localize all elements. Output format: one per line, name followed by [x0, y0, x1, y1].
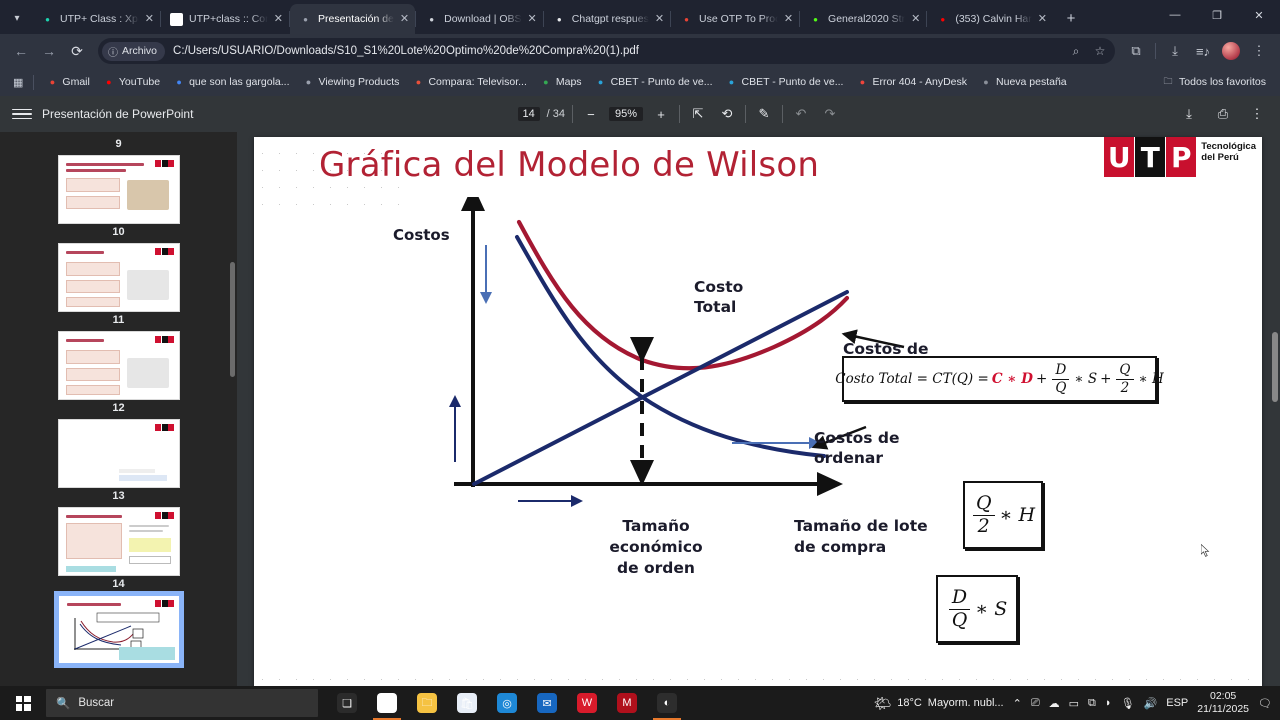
- thumbnail-number: 13: [112, 490, 124, 502]
- thumbnail-number: 9: [115, 138, 121, 150]
- youtube-icon: ●: [936, 13, 949, 26]
- tab-title: Use OTP To Proc: [699, 12, 778, 26]
- clock[interactable]: 02:05 21/11/2025: [1197, 690, 1249, 716]
- screenshot-icon[interactable]: ⧉: [1088, 697, 1096, 710]
- undo-icon[interactable]: ↶: [790, 103, 812, 125]
- ordering-cost-formula: D Q ∗ S: [947, 588, 1008, 631]
- total-cost-formula-box: Costo Total = CT(Q) = C ∗ D + D Q ∗ S +: [842, 356, 1157, 402]
- back-button[interactable]: ←: [8, 38, 34, 64]
- tab-title: General2020 Str: [828, 12, 905, 26]
- apps-grid-icon[interactable]: ▦: [8, 74, 27, 91]
- star-icon[interactable]: ☆: [1089, 40, 1111, 62]
- utp-logo-letter-p: P: [1166, 137, 1196, 177]
- utp-logo-caption: Tecnológica del Perú: [1201, 137, 1256, 163]
- bookmark-label: Nueva pestaña: [996, 76, 1067, 88]
- total-cost-formula: Costo Total = CT(Q) = C ∗ D + D Q ∗ S +: [835, 363, 1163, 394]
- folder-icon: 🗀: [1162, 76, 1174, 88]
- fraction-denominator: Q: [949, 610, 971, 631]
- fraction-numerator: Q: [973, 494, 995, 516]
- tab-title: Chatgpt respues: [572, 12, 649, 26]
- cbet-icon: ●: [726, 76, 738, 88]
- tab-close-icon[interactable]: ✕: [1038, 14, 1047, 25]
- bookmark-item[interactable]: ●Maps: [534, 74, 588, 90]
- tab-close-icon[interactable]: ✕: [400, 14, 409, 25]
- formula-fraction-q-2: Q 2: [973, 494, 995, 537]
- all-bookmarks-label: Todos los favoritos: [1179, 76, 1266, 88]
- file-chip-label: Archivo: [122, 45, 157, 57]
- browser-toolbar: ← → ⟳ ⓘ Archivo C:/Users/USUARIO/Downloa…: [0, 34, 1280, 68]
- thumbnail-slide[interactable]: [58, 507, 180, 576]
- toolbar-divider: [745, 105, 746, 123]
- formula-fraction-d-q: D Q: [949, 588, 971, 631]
- thumbnail-scrollbar[interactable]: [230, 262, 235, 377]
- file-scheme-chip[interactable]: ⓘ Archivo: [102, 42, 165, 61]
- formula-term-cd: C ∗ D: [992, 371, 1033, 387]
- info-circle-icon: ⓘ: [108, 44, 118, 59]
- obs-icon: ◐: [657, 693, 677, 713]
- wilson-model-chart: Costos CostoTotal Costos deinventario Co…: [254, 197, 1262, 686]
- bookmark-label: que son las gargola...: [189, 76, 289, 88]
- mic-icon[interactable]: 🎙: [1121, 697, 1135, 710]
- obs-icon: ●: [425, 13, 438, 26]
- toolbar-divider: [1155, 43, 1156, 59]
- toolbar-divider: [679, 105, 680, 123]
- compare-icon: ●: [412, 76, 424, 88]
- fit-page-icon[interactable]: ⇱: [687, 103, 709, 125]
- pdf-document-title: Presentación de PowerPoint: [42, 107, 193, 121]
- pdf-toolbar-controls: 14 / 34 − 95% + ⇱ ⟲ ✎ ↶ ↷ ⤓ ⎙ ⋮: [518, 103, 1268, 125]
- file-explorer-button[interactable]: 🗀: [408, 686, 446, 720]
- mouse-cursor: [1201, 544, 1211, 558]
- mingo-icon: M: [617, 693, 637, 713]
- thumbnail-slide[interactable]: [58, 595, 180, 664]
- slide-page: Gráfica del Modelo de Wilson U T P Tecno…: [254, 137, 1262, 686]
- pdf-toolbar-right-group: ⤓ ⎙ ⋮: [1178, 103, 1268, 125]
- bookmark-item[interactable]: ●Gmail: [40, 74, 95, 90]
- omnibox-actions: ⌕ ☆: [1065, 40, 1111, 62]
- formula-mul-h: ∗ H: [1139, 371, 1164, 387]
- new-tab-button[interactable]: +: [1059, 6, 1083, 30]
- volume-icon[interactable]: 🔊: [1144, 697, 1158, 710]
- thumbnail-item[interactable]: 10: [0, 224, 237, 312]
- mini-utp-logo: [155, 512, 175, 519]
- language-indicator[interactable]: ESP: [1166, 697, 1188, 709]
- wifi-icon[interactable]: ◗: [1105, 697, 1112, 709]
- mini-utp-logo: [155, 160, 175, 167]
- tab-title: (353) Calvin Har: [955, 12, 1031, 26]
- tab-close-icon[interactable]: ✕: [911, 14, 920, 25]
- all-bookmarks-button[interactable]: 🗀 Todos los favoritos: [1156, 74, 1272, 90]
- bookmark-label: Maps: [556, 76, 582, 88]
- ordering-cost-formula-box: D Q ∗ S: [936, 575, 1018, 643]
- tab-strip: ▾ ●UTP+ Class : Xpe✕●UTP+class :: Con✕●P…: [0, 0, 1280, 34]
- chrome-button[interactable]: ◉: [368, 686, 406, 720]
- weather-widget[interactable]: 🌤 18°C Mayorm. nubl...: [873, 695, 1003, 712]
- tab-title: UTP+ Class : Xpe: [60, 12, 139, 26]
- annotation-costos-ordenar: Costos deordenar: [814, 428, 900, 468]
- three-dot-menu-icon[interactable]: ⋮: [1246, 103, 1268, 125]
- outlook-icon: ✉: [537, 693, 557, 713]
- mingo-button[interactable]: M: [608, 686, 646, 720]
- thumbnail-item[interactable]: 14: [0, 576, 237, 664]
- mini-utp-logo: [155, 336, 175, 343]
- annotation-costo-total: CostoTotal: [694, 277, 743, 317]
- bookmark-item[interactable]: ●Viewing Products: [297, 74, 406, 90]
- chrome-icon: ◉: [377, 693, 397, 713]
- pdf-globe-icon: ●: [299, 13, 312, 26]
- search-icon: 🔍: [56, 696, 70, 710]
- file-explorer-icon: 🗀: [417, 693, 437, 713]
- browser-tab[interactable]: ●UTP+class :: Con✕: [161, 4, 289, 34]
- bookmark-label: Compara: Televisor...: [428, 76, 526, 88]
- chatgpt-icon: ●: [553, 13, 566, 26]
- wattpad-icon: W: [577, 693, 597, 713]
- browser-window: ▾ ●UTP+ Class : Xpe✕●UTP+class :: Con✕●P…: [0, 0, 1280, 686]
- hamburger-menu-icon[interactable]: [12, 109, 32, 120]
- formula-mul-h: ∗ H: [1000, 504, 1036, 526]
- thumbnail-number: 14: [112, 578, 124, 590]
- utp-logo: U T P Tecnológica del Perú: [1104, 137, 1256, 177]
- windows-start-icon[interactable]: [0, 686, 46, 720]
- pdf-toolbar: Presentación de PowerPoint 14 / 34 − 95%…: [0, 96, 1280, 132]
- tab-close-icon[interactable]: ✕: [784, 14, 793, 25]
- microsoft-store-icon: 🛍: [457, 693, 477, 713]
- google-icon: ●: [173, 76, 185, 88]
- system-tray: 🌤 18°C Mayorm. nubl... ⌃ ⎚ ☁ ▭ ⧉ ◗ 🎙 🔊 E…: [873, 690, 1280, 716]
- search-placeholder: Buscar: [78, 697, 114, 709]
- formula-mul-s: ∗ S: [975, 598, 1007, 620]
- download-icon[interactable]: ⤓: [1178, 103, 1200, 125]
- mini-utp-logo: [155, 248, 175, 255]
- bookmark-item[interactable]: ●CBET - Punto de ve...: [589, 74, 719, 90]
- pdf-scrollbar[interactable]: [1272, 332, 1278, 402]
- bookmark-label: CBET - Punto de ve...: [742, 76, 844, 88]
- bookmark-label: YouTube: [119, 76, 160, 88]
- pdf-page-view[interactable]: Gráfica del Modelo de Wilson U T P Tecno…: [237, 132, 1280, 686]
- thumbnail-number: 10: [112, 226, 124, 238]
- reload-button[interactable]: ⟳: [64, 38, 90, 64]
- fraction-denominator: Q: [1052, 380, 1069, 395]
- windows-taskbar: 🔍 Buscar ❏◉🗀🛍◎✉WM◐ 🌤 18°C Mayorm. nubl..…: [0, 686, 1280, 720]
- thumbnail-item[interactable]: 11: [0, 312, 237, 400]
- pdf-viewer: Presentación de PowerPoint 14 / 34 − 95%…: [0, 96, 1280, 686]
- tab-title: UTP+class :: Con: [189, 12, 268, 26]
- thumbnail-slide[interactable]: [58, 155, 180, 224]
- zoom-level-label[interactable]: 95%: [609, 107, 643, 121]
- thumbnail-item[interactable]: 13: [0, 488, 237, 576]
- formula-plus-1: +: [1036, 371, 1047, 387]
- bookmark-item[interactable]: ●Nueva pestaña: [974, 74, 1073, 90]
- three-dot-menu-icon[interactable]: ⋮: [1246, 38, 1272, 64]
- media-list-icon[interactable]: ≡♪: [1190, 38, 1216, 64]
- annotate-pen-icon[interactable]: ✎: [753, 103, 775, 125]
- bookmark-item[interactable]: ●Error 404 - AnyDesk: [850, 74, 973, 90]
- fraction-numerator: Q: [1116, 363, 1133, 379]
- page-title: Gráfica del Modelo de Wilson: [319, 145, 819, 185]
- maps-icon: ●: [540, 76, 552, 88]
- formula-lhs: Costo Total = CT(Q) =: [835, 371, 989, 387]
- utp-class-icon: ●: [170, 13, 183, 26]
- maximize-button[interactable]: ❐: [1196, 0, 1238, 30]
- utp-caption-line2: del Perú: [1201, 152, 1256, 163]
- onedrive-icon[interactable]: ☁: [1049, 697, 1060, 710]
- bookmark-label: CBET - Punto de ve...: [611, 76, 713, 88]
- close-button[interactable]: ✕: [1238, 0, 1280, 30]
- fraction-denominator: 2: [975, 516, 993, 537]
- utp-logo-blocks: U T P: [1104, 137, 1197, 177]
- chevron-up-icon[interactable]: ⌃: [1013, 697, 1022, 710]
- fraction-numerator: D: [1052, 363, 1069, 379]
- browser-tab[interactable]: ●General2020 Str✕: [800, 4, 926, 34]
- page-number-input[interactable]: 14: [518, 107, 540, 121]
- bookmark-label: Viewing Products: [319, 76, 400, 88]
- taskbar-app-list: ❏◉🗀🛍◎✉WM◐: [328, 686, 686, 720]
- utp-caption-line1: Tecnológica: [1201, 141, 1256, 152]
- zoom-out-icon[interactable]: ⌕: [1065, 40, 1087, 62]
- generic-site-icon: ●: [303, 76, 315, 88]
- browser-tab[interactable]: ●Use OTP To Proc✕: [671, 4, 799, 34]
- browser-tab[interactable]: ●UTP+ Class : Xpe✕: [32, 4, 160, 34]
- fraction-numerator: D: [949, 588, 970, 610]
- bookmark-label: Error 404 - AnyDesk: [872, 76, 967, 88]
- cam-icon[interactable]: ⎚: [1031, 697, 1040, 710]
- thumbnail-slide[interactable]: [58, 419, 180, 488]
- chart-svg: [254, 197, 1262, 686]
- thumbnail-slide[interactable]: [58, 331, 180, 400]
- zoom-out-button[interactable]: −: [580, 103, 602, 125]
- browser-tab[interactable]: ●(353) Calvin Har✕: [927, 4, 1053, 34]
- thumbnail-panel[interactable]: 91011121314: [0, 132, 237, 686]
- download-icon[interactable]: ⤓: [1162, 38, 1188, 64]
- bookmark-item[interactable]: ●que son las gargola...: [167, 74, 295, 90]
- thumbnail-number: 11: [113, 314, 125, 326]
- tab-close-icon[interactable]: ✕: [528, 14, 537, 25]
- outlook-button[interactable]: ✉: [528, 686, 566, 720]
- total-pages-label: / 34: [547, 108, 565, 120]
- task-view-icon: ❏: [337, 693, 357, 713]
- tab-search-chevron-icon[interactable]: ▾: [4, 5, 30, 31]
- task-view-button[interactable]: ❏: [328, 686, 366, 720]
- fraction-denominator: 2: [1118, 380, 1133, 395]
- obs-button[interactable]: ◐: [648, 686, 686, 720]
- clock-date: 21/11/2025: [1197, 703, 1249, 716]
- browser-tab[interactable]: ●Download | OBS✕: [416, 4, 543, 34]
- tab-close-icon[interactable]: ✕: [145, 14, 154, 25]
- zoom-in-button[interactable]: +: [650, 103, 672, 125]
- redo-icon[interactable]: ↷: [819, 103, 841, 125]
- tab-title: Presentación de: [318, 12, 394, 26]
- taskbar-search-input[interactable]: 🔍 Buscar: [46, 689, 318, 717]
- mini-utp-logo: [155, 424, 175, 431]
- formula-plus-2: +: [1100, 371, 1111, 387]
- bookmark-label: Gmail: [62, 76, 89, 88]
- y-axis-label: Costos: [393, 226, 450, 244]
- tab-title: Download | OBS: [444, 12, 521, 26]
- print-icon[interactable]: ⎙: [1212, 103, 1234, 125]
- windows-flag-glyph: [16, 696, 31, 711]
- utp-logo-letter-u: U: [1104, 137, 1134, 177]
- clock-time: 02:05: [1197, 690, 1249, 703]
- cbet-icon: ●: [595, 76, 607, 88]
- forward-button[interactable]: →: [36, 38, 62, 64]
- puzzle-icon[interactable]: ⧉: [1123, 38, 1149, 64]
- formula-mul-s: ∗ S: [1074, 371, 1097, 387]
- x-axis-label: Tamaño de lotede compra: [794, 516, 928, 558]
- avatar[interactable]: [1222, 42, 1240, 60]
- edge-icon: ◎: [497, 693, 517, 713]
- url-text: C:/Users/USUARIO/Downloads/S10_S1%20Lote…: [173, 45, 639, 57]
- rotate-icon[interactable]: ⟲: [716, 103, 738, 125]
- utp-plus-icon: ●: [41, 13, 54, 26]
- bookmark-item[interactable]: ●YouTube: [97, 74, 166, 90]
- thumbnail-item[interactable]: 12: [0, 400, 237, 488]
- window-controls: — ❐ ✕: [1154, 0, 1280, 30]
- formula-fraction-d-q: D Q: [1052, 363, 1069, 394]
- mini-utp-logo: [155, 600, 175, 607]
- inventory-cost-formula: Q 2 ∗ H: [971, 494, 1035, 537]
- weather-desc: Mayorm. nubl...: [928, 697, 1004, 709]
- tab-close-icon[interactable]: ✕: [274, 14, 283, 25]
- edge-button[interactable]: ◎: [488, 686, 526, 720]
- browser-tab[interactable]: ●Presentación de✕: [290, 4, 415, 34]
- kick-icon: ●: [809, 13, 822, 26]
- minimize-button[interactable]: —: [1154, 0, 1196, 30]
- gmail-icon: ●: [680, 13, 693, 26]
- anydesk-icon: ●: [856, 76, 868, 88]
- thumbnail-slide[interactable]: [58, 243, 180, 312]
- weather-temp: 18°C: [897, 697, 922, 709]
- notification-icon[interactable]: 🗨: [1258, 697, 1272, 710]
- battery-icon[interactable]: ▭: [1069, 697, 1079, 710]
- bookmark-item[interactable]: ●CBET - Punto de ve...: [720, 74, 850, 90]
- thumbnail-number: 12: [112, 402, 124, 414]
- bookmarks-bar: ▦ ●Gmail●YouTube●que son las gargola...●…: [0, 68, 1280, 96]
- toolbar-divider: [782, 105, 783, 123]
- bookmarks-divider: [33, 75, 34, 90]
- wattpad-button[interactable]: W: [568, 686, 606, 720]
- thumbnail-item[interactable]: 9: [0, 136, 237, 224]
- toolbar-divider: [572, 105, 573, 123]
- globe-icon: ●: [980, 76, 992, 88]
- gmail-icon: ●: [46, 76, 58, 88]
- microsoft-store-button[interactable]: 🛍: [448, 686, 486, 720]
- browser-tab[interactable]: ●Chatgpt respues✕: [544, 4, 670, 34]
- pdf-body: 91011121314 Gráfica del Modelo de Wilson…: [0, 132, 1280, 686]
- tab-close-icon[interactable]: ✕: [655, 14, 664, 25]
- partly-cloudy-night-icon: 🌤: [873, 695, 891, 712]
- bookmark-item[interactable]: ●Compara: Televisor...: [406, 74, 532, 90]
- youtube-icon: ●: [103, 76, 115, 88]
- inventory-cost-formula-box: Q 2 ∗ H: [963, 481, 1043, 549]
- formula-fraction-q-2: Q 2: [1116, 363, 1133, 394]
- annotation-tamano-economico: Tamañoeconómicode orden: [591, 516, 721, 579]
- address-bar[interactable]: ⓘ Archivo C:/Users/USUARIO/Downloads/S10…: [98, 38, 1115, 64]
- utp-logo-letter-t: T: [1135, 137, 1165, 177]
